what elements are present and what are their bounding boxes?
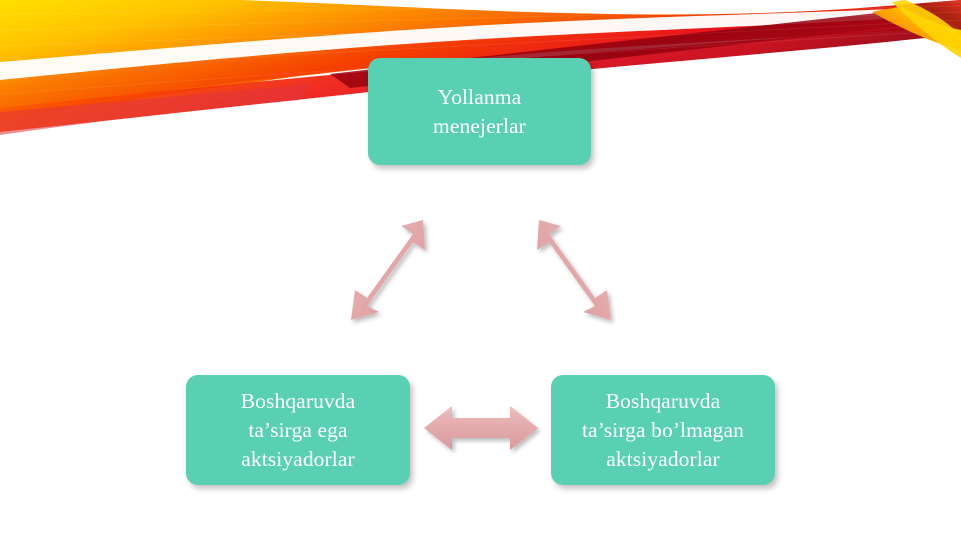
- process-box-bottom-left-label: Boshqaruvda ta’sirga ega aktsiyadorlar: [196, 387, 400, 474]
- process-box-bottom-right-label: Boshqaruvda ta’sirga bo’lmagan aktsiyado…: [561, 387, 765, 474]
- process-box-bottom-right[interactable]: Boshqaruvda ta’sirga bo’lmagan aktsiyado…: [551, 375, 775, 485]
- double-arrow-horizontal-icon: [420, 402, 542, 458]
- process-box-top-label: Yollanma menejerlar: [378, 83, 581, 141]
- slide-canvas: Yollanma menejerlar Boshqaruvda ta’sirga…: [0, 0, 961, 540]
- double-arrow-diagonal-left-icon: [345, 214, 437, 326]
- double-arrow-diagonal-right-icon: [525, 214, 617, 326]
- process-box-top[interactable]: Yollanma menejerlar: [368, 58, 591, 165]
- process-box-bottom-left[interactable]: Boshqaruvda ta’sirga ega aktsiyadorlar: [186, 375, 410, 485]
